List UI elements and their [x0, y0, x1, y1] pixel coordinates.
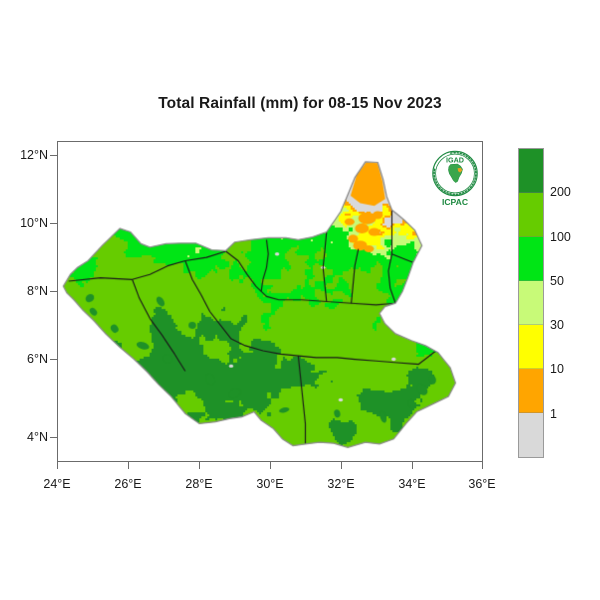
x-tick-mark [482, 462, 483, 469]
x-tick-mark [412, 462, 413, 469]
y-tick-mark [50, 437, 57, 438]
x-tick-mark [341, 462, 342, 469]
colorbar-tick-30: 30 [550, 318, 564, 332]
colorbar-band--1 [519, 413, 543, 457]
y-tick-mark [50, 155, 57, 156]
y-tick-mark [50, 359, 57, 360]
y-tick-mark [50, 223, 57, 224]
colorbar-band-100-200 [519, 193, 543, 237]
x-axis-label-28e: 28°E [164, 477, 234, 491]
rainfall-raster-map [58, 142, 482, 461]
colorbar-tick-100: 100 [550, 230, 571, 244]
x-axis-label-34e: 34°E [377, 477, 447, 491]
x-axis-label-32e: 32°E [306, 477, 376, 491]
logo-top-text: IGAD [446, 155, 464, 164]
africa-map-icon [448, 164, 462, 183]
x-tick-mark [270, 462, 271, 469]
colorbar-tick-200: 200 [550, 185, 571, 199]
x-tick-mark [128, 462, 129, 469]
y-axis-label-10n: 10°N [0, 216, 48, 230]
x-tick-mark [199, 462, 200, 469]
colorbar-tick-10: 10 [550, 362, 564, 376]
igad-emblem-icon: IGAD ICPAC [424, 148, 486, 210]
y-axis-label-6n: 6°N [0, 352, 48, 366]
y-axis-label-8n: 8°N [0, 284, 48, 298]
x-axis-label-30e: 30°E [235, 477, 305, 491]
y-tick-mark [50, 291, 57, 292]
colorbar-tick-50: 50 [550, 274, 564, 288]
colorbar [518, 148, 544, 458]
colorbar-band--200 [519, 149, 543, 193]
page-title: Total Rainfall (mm) for 08-15 Nov 2023 [0, 95, 600, 113]
colorbar-tick-1: 1 [550, 407, 557, 421]
rainfall-map-figure: Total Rainfall (mm) for 08-15 Nov 2023 1… [0, 0, 600, 600]
x-axis-label-26e: 26°E [93, 477, 163, 491]
map-plot-area [57, 141, 483, 462]
colorbar-band-30-50 [519, 281, 543, 325]
icpac-igad-logo: IGAD ICPAC [424, 148, 486, 210]
logo-bottom-text: ICPAC [442, 197, 468, 207]
colorbar-band-1-10 [519, 369, 543, 413]
y-axis-label-4n: 4°N [0, 430, 48, 444]
x-axis-label-24e: 24°E [22, 477, 92, 491]
colorbar-band-50-100 [519, 237, 543, 281]
x-axis-label-36e: 36°E [447, 477, 517, 491]
x-tick-mark [57, 462, 58, 469]
colorbar-band-10-30 [519, 325, 543, 369]
y-axis-label-12n: 12°N [0, 148, 48, 162]
